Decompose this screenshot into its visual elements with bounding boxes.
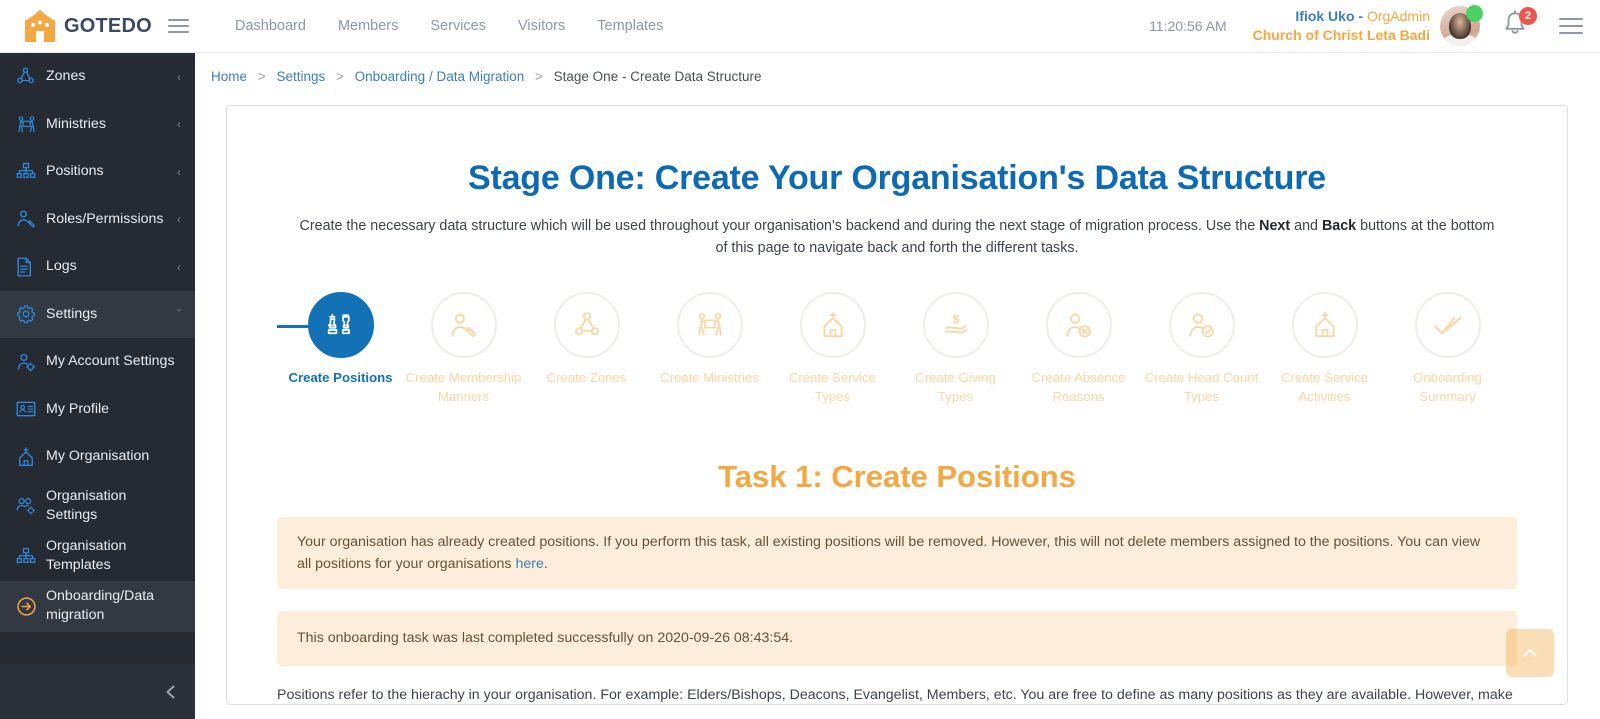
hamburger-bar [1559,25,1583,27]
subtitle-part-1: Create the necessary data structure whic… [300,218,1260,234]
chess-pieces-icon [325,311,356,340]
sidebar: Zones ‹ Ministries ‹ Positions [0,53,195,719]
sidebar-item-ministries[interactable]: Ministries ‹ [0,101,195,149]
svg-text:$: $ [952,314,959,327]
step-create-absence-reasons[interactable]: Create Absence Reasons [1017,292,1140,406]
step-circle [431,292,497,358]
user-role: OrgAdmin [1367,8,1430,24]
chevron-left-icon: ‹ [177,211,181,227]
sidebar-item-label: Onboarding/Data migration [42,587,181,625]
sidebar-item-label: Ministries [42,115,173,134]
step-create-giving-types[interactable]: $ Create Giving Types [894,292,1017,406]
notification-badge: 2 [1519,7,1537,25]
stage-card: Stage One: Create Your Organisation's Da… [226,105,1568,705]
brand-name: GOTEDO [64,15,152,38]
right-hamburger-menu-icon[interactable] [1556,11,1586,41]
chevron-left-icon: ‹ [177,164,181,180]
sidebar-item-label: My Account Settings [42,352,181,371]
breadcrumb-item-current: Stage One - Create Data Structure [554,69,762,84]
ministries-icon [16,115,42,134]
clock: 11:20:56 AM [1149,18,1227,34]
step-circle [1046,292,1112,358]
sidebar-item-label: Positions [42,162,173,181]
step-label: Create Membership Manners [405,368,523,406]
organisation-name: Church of Christ Leta Badi [1253,26,1430,45]
view-positions-link[interactable]: here [515,556,543,572]
user-info[interactable]: Ifiok Uko - OrgAdmin Church of Christ Le… [1253,7,1430,45]
gear-icon [16,304,42,324]
sidebar-item-logs[interactable]: Logs ‹ [0,243,195,291]
online-status-dot [1466,5,1483,22]
sidebar-item-label: My Organisation [42,447,181,466]
arrow-circle-right-icon [16,596,42,617]
step-label: Create Positions [282,368,400,387]
chevron-left-icon: ‹ [177,259,181,275]
step-circle [554,292,620,358]
church-icon [1311,311,1339,339]
step-create-membership-manners[interactable]: Create Membership Manners [402,292,525,406]
step-label: Create Absence Reasons [1020,368,1138,406]
step-create-service-activities[interactable]: Create Service Activities [1263,292,1386,406]
hamburger-bar [168,25,189,27]
page-subtitle: Create the necessary data structure whic… [295,215,1500,259]
chevron-up-icon [1520,643,1540,663]
user-separator: - [1355,8,1367,24]
breadcrumb-item-settings[interactable]: Settings [276,69,325,84]
breadcrumb-separator: > [535,69,543,84]
step-circle [1169,292,1235,358]
main-content: Home > Settings > Onboarding / Data Migr… [195,53,1600,719]
step-label: Create Zones [528,368,646,387]
org-settings-icon [16,496,42,516]
subtitle-back-label: Back [1322,218,1356,234]
sidebar-item-label: Organisation Templates [42,537,181,575]
hamburger-bar [1559,32,1583,34]
step-create-zones[interactable]: Create Zones [525,292,648,406]
user-name: Ifiok Uko [1295,8,1354,24]
step-label: Create Service Types [774,368,892,406]
church-icon [16,447,42,467]
double-check-icon [1433,313,1463,337]
sidebar-item-organisation-templates[interactable]: Organisation Templates [0,531,195,581]
sidebar-item-label: Organisation Settings [42,487,181,525]
avatar[interactable] [1440,6,1480,46]
step-circle [1415,292,1481,358]
chevron-left-icon [163,684,179,700]
breadcrumb: Home > Settings > Onboarding / Data Migr… [195,53,1600,84]
ministries-icon [695,311,725,339]
sidebar-item-label: Zones [42,67,173,86]
step-circle [677,292,743,358]
step-create-service-types[interactable]: Create Service Types [771,292,894,406]
subtitle-next-label: Next [1259,218,1290,234]
breadcrumb-separator: > [336,69,344,84]
church-icon [819,311,847,339]
sidebar-collapse-button[interactable] [0,664,195,719]
sidebar-item-zones[interactable]: Zones ‹ [0,53,195,101]
task-description: Positions refer to the hierachy in your … [277,684,1517,705]
hamburger-bar [168,19,189,21]
scroll-to-top-button[interactable] [1506,629,1554,677]
step-circle: $ [923,292,989,358]
logs-icon [16,257,42,277]
hamburger-bar [168,31,189,33]
person-check-icon [1187,311,1216,340]
chevron-left-icon: ‹ [177,116,181,132]
step-onboarding-summary[interactable]: Onboarding Summary [1386,292,1509,406]
sidebar-item-settings[interactable]: Settings ˇ [0,291,195,339]
person-x-icon [1064,311,1093,340]
sidebar-item-label: Roles/Permissions [42,210,173,229]
nav-item-dashboard[interactable]: Dashboard [219,0,322,53]
church-logo-icon [22,10,58,42]
nav-item-templates[interactable]: Templates [581,0,679,53]
org-templates-icon [16,547,42,566]
warning-alert: Your organisation has already created po… [277,517,1517,590]
step-label: Create Ministries [651,368,769,387]
top-navigation: Dashboard Members Services Visitors Temp… [219,0,679,53]
step-label: Onboarding Summary [1389,368,1507,406]
step-create-head-count-types[interactable]: Create Head Count Types [1140,292,1263,406]
onboarding-stepper: Create Positions Create Membership Manne… [277,292,1517,406]
warning-alert-text: Your organisation has already created po… [297,534,1480,572]
sidebar-item-onboarding-data-migration[interactable]: Onboarding/Data migration [0,581,195,631]
task-title: Task 1: Create Positions [277,459,1517,495]
step-circle [800,292,866,358]
zones-icon [16,67,42,86]
notifications-button[interactable]: 2 [1502,10,1532,42]
step-label: Create Giving Types [897,368,1015,406]
info-alert: This onboarding task was last completed … [277,611,1517,665]
account-settings-icon [16,352,42,372]
warning-alert-text-end: . [544,556,548,572]
sidebar-item-organisation-settings[interactable]: Organisation Settings [0,481,195,531]
subtitle-part-2: and [1290,218,1322,234]
breadcrumb-item-onboarding[interactable]: Onboarding / Data Migration [355,69,525,84]
sidebar-item-roles-permissions[interactable]: Roles/Permissions ‹ [0,196,195,244]
step-label: Create Head Count Types [1143,368,1261,406]
zones-icon [573,311,601,339]
brand[interactable]: GOTEDO [0,10,155,42]
step-circle [308,292,374,358]
step-label: Create Service Activities [1266,368,1384,406]
sidebar-item-my-organisation[interactable]: My Organisation [0,433,195,481]
hamburger-menu-icon[interactable] [161,9,195,43]
step-create-ministries[interactable]: Create Ministries [648,292,771,406]
step-create-positions[interactable]: Create Positions [279,292,402,406]
nav-item-members[interactable]: Members [322,0,414,53]
chevron-down-icon: ˇ [177,306,181,322]
header-right: 11:20:56 AM Ifiok Uko - OrgAdmin Church … [1149,6,1600,46]
breadcrumb-separator: > [258,69,266,84]
step-circle [1292,292,1358,358]
user-name-line: Ifiok Uko - OrgAdmin [1253,7,1430,26]
person-tag-icon [449,311,478,340]
profile-card-icon [16,400,42,418]
sidebar-item-my-account-settings[interactable]: My Account Settings [0,338,195,386]
sidebar-item-positions[interactable]: Positions ‹ [0,148,195,196]
page-title: Stage One: Create Your Organisation's Da… [277,159,1517,198]
top-bar: GOTEDO Dashboard Members Services Visito… [0,0,1600,53]
chevron-left-icon: ‹ [177,69,181,85]
sidebar-item-label: Settings [42,305,173,324]
hamburger-bar [1559,18,1583,20]
roles-permissions-icon [16,209,42,229]
breadcrumb-item-home[interactable]: Home [211,69,247,84]
nav-item-services[interactable]: Services [414,0,502,53]
sidebar-item-my-profile[interactable]: My Profile [0,386,195,434]
positions-icon [16,162,42,181]
sidebar-item-label: My Profile [42,400,181,419]
nav-item-visitors[interactable]: Visitors [502,0,581,53]
hand-money-icon: $ [942,311,970,339]
sidebar-item-label: Logs [42,257,173,276]
